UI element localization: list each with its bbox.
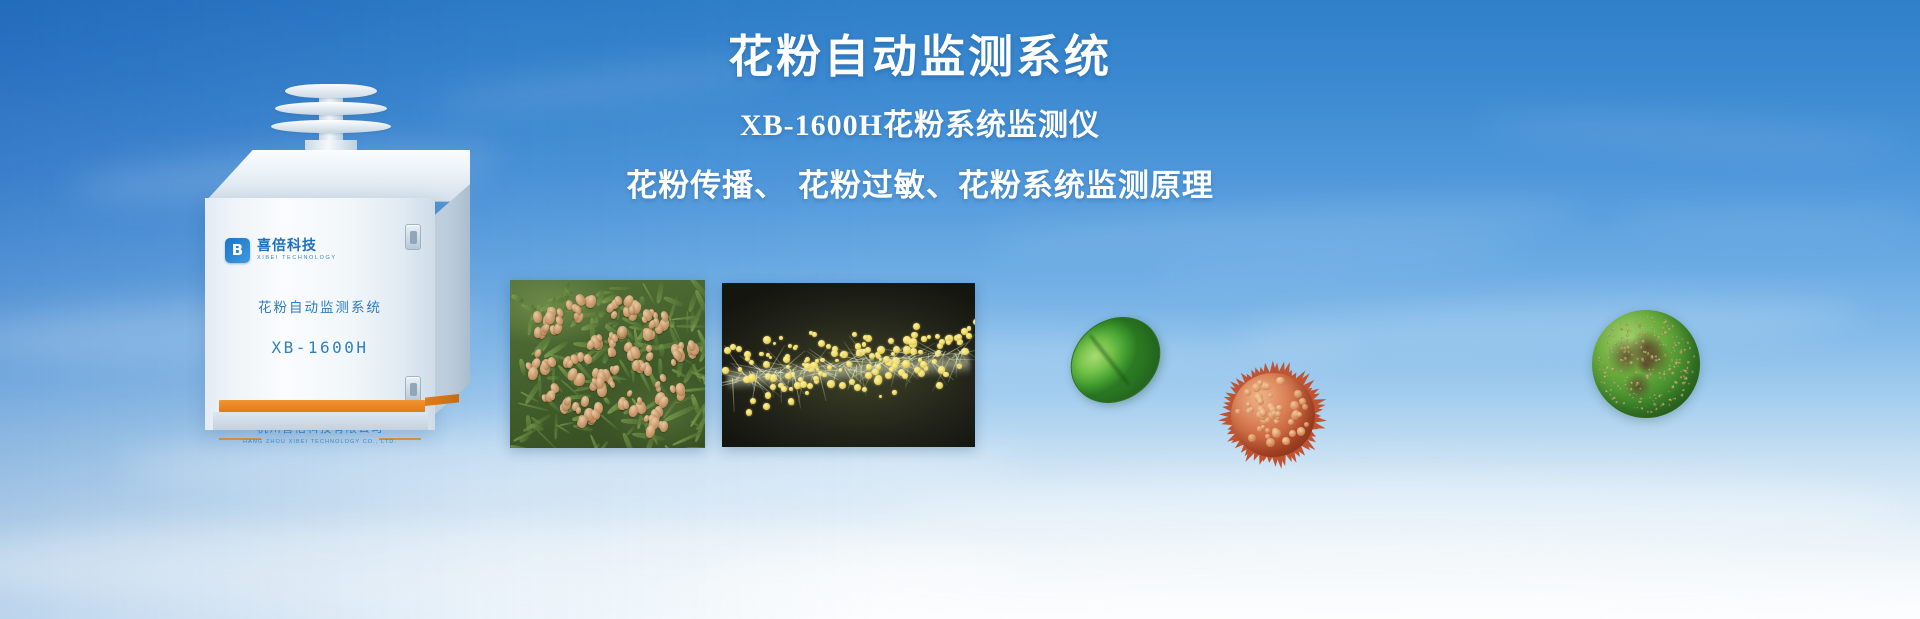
catkin-anther — [736, 346, 742, 352]
grain-wart — [1677, 341, 1680, 345]
grain-bump — [1266, 438, 1275, 447]
grain-wart — [1663, 354, 1666, 358]
grain-wart — [1604, 350, 1607, 353]
grain-wart — [1612, 378, 1613, 380]
brand-logo-text: 喜倍科技 XIBEI TECHNOLOGY — [257, 239, 337, 262]
catkin-anther — [724, 347, 731, 354]
catkin-anther — [956, 334, 962, 340]
catkin-anther — [766, 353, 770, 357]
grain-wart — [1674, 397, 1676, 400]
company-name-en: HANG ZHOU XIBEI TECHNOLOGY CO., LTD. — [243, 439, 397, 445]
door-latch-bottom-icon[interactable] — [405, 376, 421, 402]
door-latch-top-icon[interactable] — [405, 224, 421, 250]
catkin-anther — [786, 365, 790, 369]
catkin-anther — [855, 343, 861, 349]
grain-wart — [1612, 335, 1615, 338]
catkin-anther — [874, 377, 882, 385]
grain-wart — [1664, 379, 1666, 381]
grain-bump — [1276, 377, 1285, 386]
cabinet-front-door: B 喜倍科技 XIBEI TECHNOLOGY 花粉自动监测系统 XB-1600… — [205, 198, 435, 430]
subtitle-model: XB-1600H花粉系统监测仪 — [560, 107, 1280, 145]
grain-wart — [1633, 406, 1635, 408]
grain-bump — [1257, 426, 1263, 432]
foliage-needle — [686, 311, 688, 334]
grain-wart — [1622, 401, 1626, 405]
grain-wart — [1655, 398, 1657, 399]
catkin-anther — [722, 367, 728, 373]
grain-wart — [1646, 330, 1648, 332]
grain-wart — [1651, 317, 1654, 320]
cabinet-accent-stripe — [219, 400, 425, 412]
grain-bump — [1290, 401, 1299, 410]
grain-wart — [1679, 375, 1683, 379]
catkin-anther — [807, 383, 813, 389]
catkin-anther — [902, 360, 910, 368]
grain-wart — [1683, 377, 1687, 380]
grain-wart — [1655, 407, 1658, 410]
catkin-anther — [935, 334, 940, 339]
grain-wart — [1665, 324, 1668, 327]
catkin-anther — [763, 403, 770, 410]
grain-wart — [1658, 394, 1661, 397]
catkin-anther — [936, 382, 943, 389]
grain-bump — [1244, 389, 1251, 396]
grain-wart — [1616, 351, 1618, 353]
grain-wart — [1668, 398, 1672, 402]
grain-wart — [1646, 315, 1649, 318]
inlet-ring — [271, 120, 391, 133]
grain-wart — [1615, 400, 1618, 403]
grain-wart — [1609, 389, 1613, 393]
warty-green-pollen-grain — [1592, 310, 1700, 418]
catkin-anther — [779, 336, 783, 340]
grain-wart — [1619, 321, 1623, 324]
device-product-name: 花粉自动监测系统 — [205, 296, 435, 316]
pollen-cone — [544, 311, 554, 324]
grain-wart — [1662, 372, 1666, 376]
grain-wart — [1651, 323, 1653, 325]
pollen-monitor-banner: 花粉自动监测系统 XB-1600H花粉系统监测仪 花粉传播、 花粉过敏、花粉系统… — [0, 0, 1920, 619]
grain-wart — [1681, 338, 1685, 342]
grain-wart — [1659, 376, 1661, 378]
inlet-cap — [285, 84, 377, 98]
grain-wart — [1686, 366, 1689, 369]
grain-wart — [1640, 326, 1644, 329]
catkin-anther — [877, 346, 885, 354]
grain-wart — [1673, 366, 1676, 369]
grain-wart — [1638, 345, 1642, 349]
grain-wart — [1650, 410, 1653, 413]
grain-wart — [1688, 346, 1692, 350]
grain-wart — [1661, 326, 1664, 329]
catkin-anther — [943, 372, 948, 377]
grain-wart — [1646, 410, 1649, 413]
catkin-anther — [827, 365, 832, 370]
grain-wart — [1662, 322, 1665, 324]
pollen-monitor-device: B 喜倍科技 XIBEI TECHNOLOGY 花粉自动监测系统 XB-1600… — [205, 80, 470, 430]
grain-wart — [1683, 349, 1685, 352]
grain-wart — [1611, 327, 1614, 331]
catkin-anther — [789, 387, 793, 391]
cabinet-top-panel — [205, 150, 470, 202]
grain-wart — [1669, 358, 1673, 362]
grain-wart — [1613, 397, 1616, 400]
grain-wart — [1645, 404, 1647, 406]
grain-wart — [1649, 396, 1651, 398]
grain-wart — [1639, 401, 1642, 403]
grain-bump — [1272, 429, 1280, 437]
grain-wart — [1620, 326, 1623, 330]
catkin-anther — [910, 338, 917, 345]
catkin-anther — [794, 382, 800, 388]
grain-wart — [1679, 362, 1681, 364]
grain-bump — [1298, 428, 1305, 435]
grain-wart — [1663, 341, 1665, 343]
grain-wart — [1671, 371, 1676, 376]
grain-wart — [1654, 355, 1657, 358]
device-brand-logo: B 喜倍科技 XIBEI TECHNOLOGY — [225, 238, 337, 263]
grain-wart — [1606, 374, 1608, 376]
grain-wart — [1657, 357, 1661, 360]
catkin-anther — [967, 326, 972, 331]
grain-wart — [1601, 362, 1604, 364]
grain-bump — [1252, 383, 1261, 392]
catkin-anther — [920, 361, 927, 368]
grain-wart — [1671, 336, 1674, 339]
grain-wart — [1688, 382, 1690, 384]
grain-wart — [1687, 360, 1690, 363]
grain-wart — [1673, 344, 1676, 347]
grain-wart — [1607, 340, 1610, 343]
catkin-anther — [865, 372, 872, 379]
grain-wart — [1682, 389, 1685, 392]
grain-wart — [1686, 341, 1689, 345]
brand-name-cn: 喜倍科技 — [257, 239, 337, 253]
grain-wart — [1691, 354, 1695, 358]
pollen-cone — [629, 306, 635, 314]
grain-wart — [1650, 355, 1654, 359]
catkin-anther — [759, 352, 763, 356]
cabinet-side-panel — [433, 184, 470, 416]
grain-bump — [1235, 409, 1240, 414]
pollen-cone — [532, 310, 542, 323]
foliage-needle — [683, 446, 705, 448]
page-title: 花粉自动监测系统 — [560, 30, 1280, 83]
grain-wart — [1679, 351, 1682, 355]
grain-bump — [1248, 434, 1256, 442]
headline-block: 花粉自动监测系统 XB-1600H花粉系统监测仪 花粉传播、 花粉过敏、花粉系统… — [560, 30, 1280, 205]
grain-wart — [1615, 384, 1618, 388]
catkin-anther — [892, 390, 897, 395]
pollen-cone — [670, 359, 676, 367]
grain-wart — [1599, 368, 1601, 370]
grain-wart — [1627, 323, 1630, 327]
pollen-cone — [596, 377, 604, 388]
subtitle-topics: 花粉传播、 花粉过敏、花粉系统监测原理 — [560, 167, 1280, 206]
grain-bump — [1264, 383, 1271, 390]
grain-wart — [1670, 324, 1674, 328]
ellipsoid-green-pollen-grain — [1068, 320, 1163, 400]
grain-bump — [1259, 409, 1267, 417]
grain-wart — [1676, 335, 1679, 338]
device-model-number: XB-1600H — [205, 338, 435, 357]
grain-wart — [1613, 382, 1616, 386]
grain-wart — [1668, 391, 1670, 393]
catkin-anther — [788, 344, 792, 348]
grain-wart — [1690, 370, 1693, 373]
grain-wart — [1634, 341, 1638, 346]
grain-wart — [1618, 387, 1621, 390]
sampling-inlet-icon — [271, 80, 391, 160]
grain-wart — [1603, 382, 1606, 385]
grain-wart — [1664, 318, 1666, 320]
foliage-needle — [658, 344, 664, 358]
grain-core — [1592, 310, 1700, 418]
cypress-pollen-cones-photo — [510, 280, 705, 448]
catkin-anther — [805, 391, 809, 395]
catkin-anther — [921, 336, 926, 341]
grain-wart — [1668, 328, 1672, 331]
grain-wart — [1671, 385, 1675, 389]
grain-wart — [1636, 406, 1638, 408]
pollen-cone — [637, 396, 643, 403]
cabinet-base-foot — [213, 412, 428, 430]
grain-wart — [1605, 390, 1608, 392]
catkin-anther — [794, 345, 798, 349]
grain-wart — [1610, 374, 1612, 377]
catkin-filament — [862, 359, 874, 361]
grain-wart — [1598, 359, 1600, 361]
catkin-anther — [863, 335, 868, 340]
grain-wart — [1677, 366, 1679, 368]
grain-wart — [1603, 376, 1606, 379]
grain-wart — [1669, 365, 1672, 368]
grain-wart — [1642, 333, 1645, 335]
grain-wart — [1603, 370, 1607, 374]
brand-name-en: XIBEI TECHNOLOGY — [257, 256, 337, 262]
catkin-anther — [966, 333, 972, 339]
spiky-red-pollen-grain — [1218, 360, 1328, 470]
grain-bump — [1246, 402, 1251, 407]
grain-wart — [1653, 402, 1657, 406]
grain-bump — [1268, 393, 1273, 398]
catkin-flower-photo — [722, 283, 975, 447]
brand-mark-glyph: B — [232, 243, 243, 258]
grain-wart — [1673, 350, 1675, 353]
catkin-filament — [948, 358, 975, 360]
catkin-anther — [748, 374, 756, 382]
grain-wart — [1651, 326, 1654, 329]
grain-wart — [1668, 404, 1671, 407]
brand-mark-icon: B — [225, 238, 250, 263]
catkin-anther — [746, 409, 753, 416]
inlet-ring — [275, 102, 387, 115]
grain-wart — [1641, 339, 1645, 344]
grain-wart — [1610, 385, 1612, 387]
grain-wart — [1653, 393, 1656, 395]
